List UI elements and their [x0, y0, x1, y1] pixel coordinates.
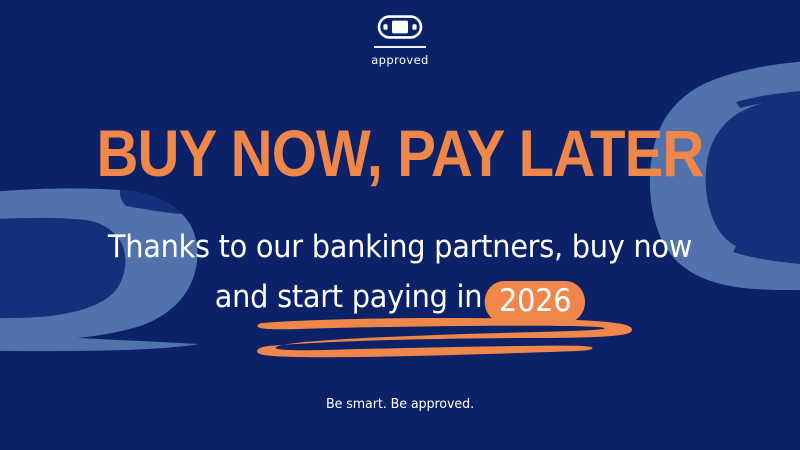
subheadline-line-2: and start paying in2026 [28, 272, 772, 322]
subheadline-line-2-text: and start paying in [215, 279, 482, 315]
subheadline-line-1: Thanks to our banking partners, buy now [28, 222, 772, 272]
logo-divider-rule [374, 46, 426, 48]
page-title: BUY NOW, PAY LATER [48, 120, 752, 186]
subheadline: Thanks to our banking partners, buy now … [28, 222, 772, 322]
car-top-view-icon [377, 14, 423, 40]
brand-logo: approved [0, 14, 800, 67]
tagline: Be smart. Be approved. [24, 396, 776, 412]
promo-banner: approved BUY NOW, PAY LATER Thanks to ou… [0, 0, 800, 450]
logo-wordmark: approved [371, 53, 429, 67]
year-highlight-badge: 2026 [485, 281, 585, 323]
